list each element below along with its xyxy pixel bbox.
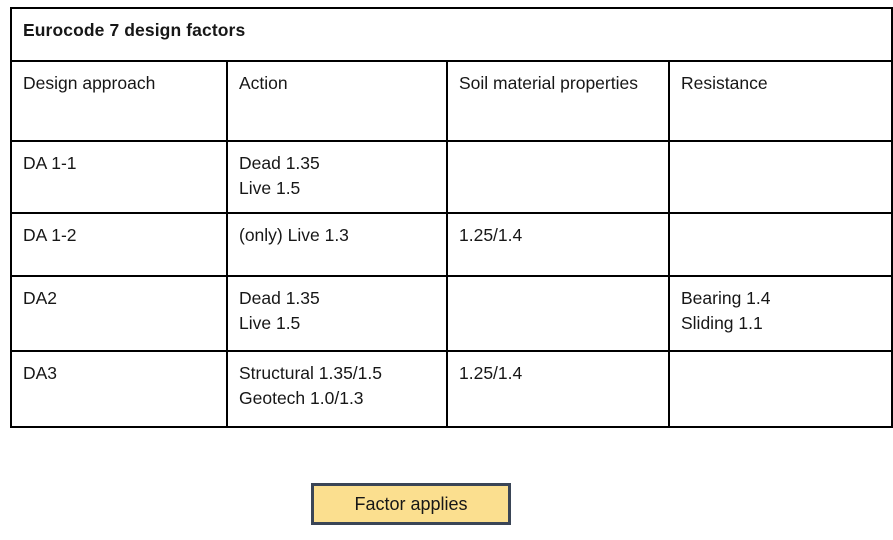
cell-line: 1.25/1.4 xyxy=(459,223,657,248)
table-row: DA 1-1 Dead 1.35 Live 1.5 xyxy=(11,141,892,213)
cell-design-approach: DA 1-2 xyxy=(11,213,227,276)
cell-resistance xyxy=(669,351,892,427)
column-header-resistance: Resistance xyxy=(669,61,892,141)
column-header-soil-material-properties: Soil material properties xyxy=(447,61,669,141)
table-row: DA 1-2 (only) Live 1.3 1.25/1.4 xyxy=(11,213,892,276)
legend-label: Factor applies xyxy=(354,494,467,515)
cell-design-approach: DA3 xyxy=(11,351,227,427)
column-header-action: Action xyxy=(227,61,447,141)
cell-action: Dead 1.35 Live 1.5 xyxy=(227,141,447,213)
cell-resistance xyxy=(669,141,892,213)
cell-line: Live 1.5 xyxy=(239,176,435,201)
column-header-design-approach: Design approach xyxy=(11,61,227,141)
cell-resistance xyxy=(669,213,892,276)
table-row: DA3 Structural 1.35/1.5 Geotech 1.0/1.3 … xyxy=(11,351,892,427)
cell-action: Structural 1.35/1.5 Geotech 1.0/1.3 xyxy=(227,351,447,427)
eurocode-factors-table: Eurocode 7 design factors Design approac… xyxy=(10,7,893,428)
cell-line: Dead 1.35 xyxy=(239,151,435,176)
cell-resistance: Bearing 1.4 Sliding 1.1 xyxy=(669,276,892,351)
cell-soil xyxy=(447,141,669,213)
cell-soil: 1.25/1.4 xyxy=(447,213,669,276)
cell-line: Bearing 1.4 xyxy=(681,286,880,311)
cell-design-approach: DA 1-1 xyxy=(11,141,227,213)
table-header-row: Design approach Action Soil material pro… xyxy=(11,61,892,141)
cell-line: Sliding 1.1 xyxy=(681,311,880,336)
cell-line: Structural 1.35/1.5 xyxy=(239,361,435,386)
cell-action: (only) Live 1.3 xyxy=(227,213,447,276)
legend-factor-applies: Factor applies xyxy=(311,483,511,525)
table-row: DA2 Dead 1.35 Live 1.5 Bearing 1.4 Slidi… xyxy=(11,276,892,351)
cell-line: Live 1.5 xyxy=(239,311,435,336)
table-title: Eurocode 7 design factors xyxy=(11,8,892,61)
cell-soil xyxy=(447,276,669,351)
cell-soil: 1.25/1.4 xyxy=(447,351,669,427)
cell-line: Dead 1.35 xyxy=(239,286,435,311)
cell-design-approach: DA2 xyxy=(11,276,227,351)
eurocode-factors-table-container: Eurocode 7 design factors Design approac… xyxy=(10,7,891,426)
cell-line: Geotech 1.0/1.3 xyxy=(239,386,435,411)
cell-line: 1.25/1.4 xyxy=(459,361,657,386)
cell-line: (only) Live 1.3 xyxy=(239,223,435,248)
cell-action: Dead 1.35 Live 1.5 xyxy=(227,276,447,351)
table-title-row: Eurocode 7 design factors xyxy=(11,8,892,61)
